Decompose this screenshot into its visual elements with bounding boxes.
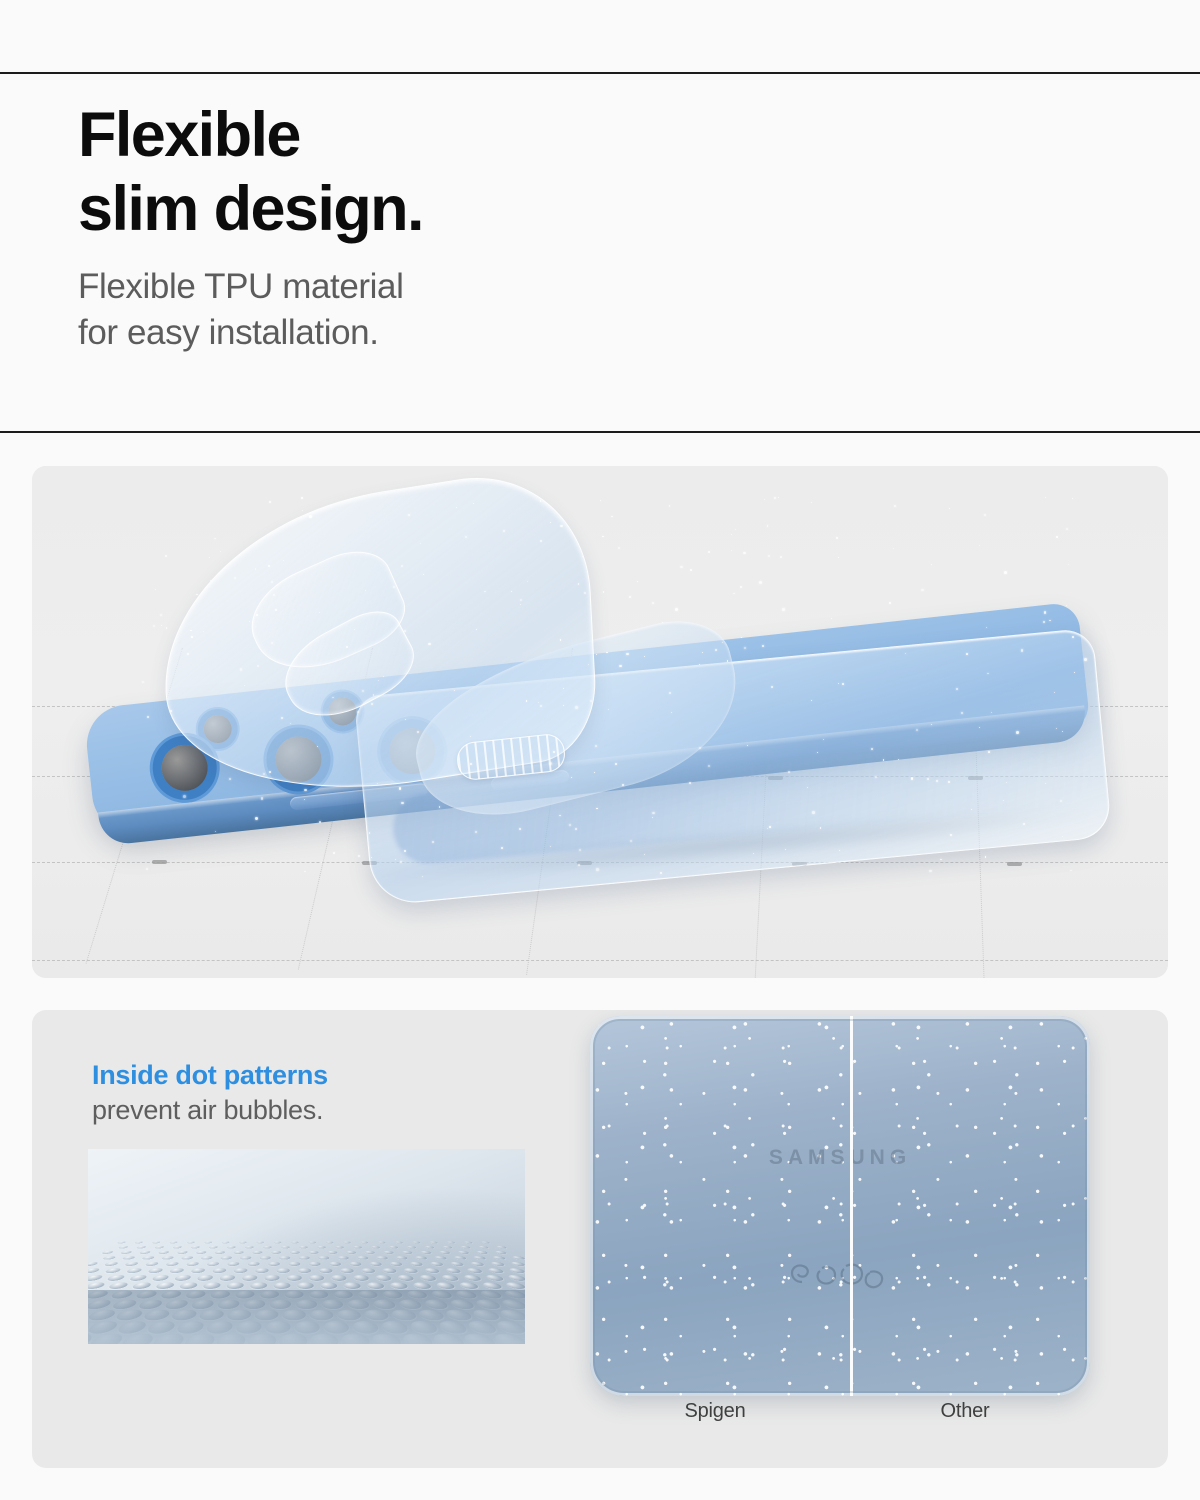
label-spigen: Spigen <box>590 1400 840 1423</box>
comparison-panel: Inside dot patterns prevent air bubbles.… <box>32 1010 1168 1468</box>
section-divider-rule <box>0 431 1200 433</box>
subhead-line-1: Flexible TPU material <box>78 264 698 310</box>
comparison-labels: Spigen Other <box>590 1392 1090 1452</box>
label-other: Other <box>840 1400 1090 1423</box>
headline-block: Flexible slim design. Flexible TPU mater… <box>78 98 698 356</box>
dot-pattern-base <box>88 1290 525 1344</box>
dot-pattern-section: Inside dot patterns prevent air bubbles. <box>32 1010 577 1468</box>
clear-case <box>32 466 1168 978</box>
headline-line-1: Flexible <box>78 100 300 170</box>
page-title: Flexible slim design. <box>78 98 698 246</box>
product-feature-page: Flexible slim design. Flexible TPU mater… <box>0 0 1200 1500</box>
headline-line-2: slim design. <box>78 172 698 246</box>
dot-pattern-callout: Inside dot patterns prevent air bubbles. <box>92 1058 512 1128</box>
dot-pattern-macro-image <box>88 1149 525 1344</box>
callout-highlight: Inside dot patterns <box>92 1058 512 1092</box>
top-divider-rule <box>0 72 1200 74</box>
comparison-device-image: SAMSUNG <box>590 1016 1090 1396</box>
subhead-line-2: for easy installation. <box>78 310 698 356</box>
case-rim <box>590 1016 1090 1396</box>
hero-image-panel: Spigen <box>32 466 1168 978</box>
callout-subtext: prevent air bubbles. <box>92 1092 512 1128</box>
page-subtitle: Flexible TPU material for easy installat… <box>78 264 698 356</box>
